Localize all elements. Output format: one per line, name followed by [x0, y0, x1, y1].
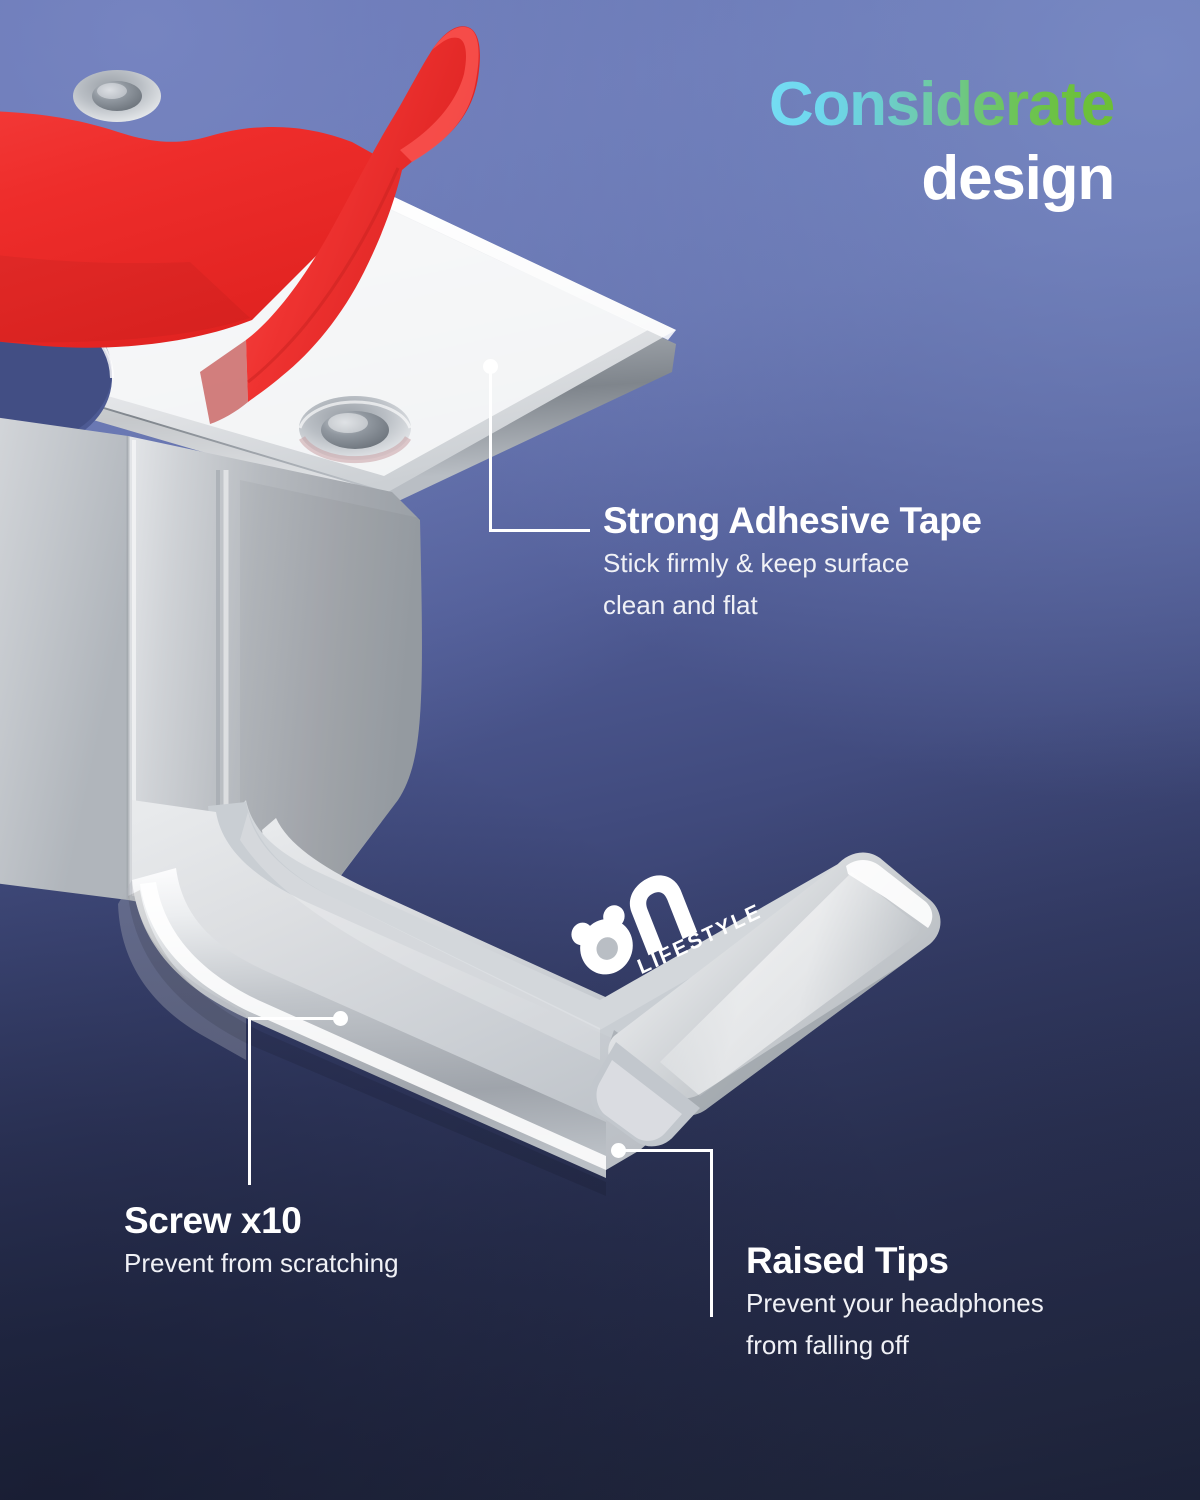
leader-segment-vertical — [489, 366, 492, 532]
callout-subtitle-line-1: Prevent from scratching — [124, 1242, 399, 1284]
callout-title: Raised Tips — [746, 1240, 1044, 1282]
leader-segment-horizontal — [248, 1017, 338, 1020]
callout-subtitle-line-2: from falling off — [746, 1324, 1044, 1366]
leader-line-adhesive — [480, 358, 590, 543]
headline-line-2: design — [769, 148, 1114, 210]
callout-subtitle-line-1: Prevent your headphones — [746, 1282, 1044, 1324]
leader-line-tips — [610, 1142, 718, 1320]
callout-subtitle-line-2: clean and flat — [603, 584, 982, 626]
leader-segment-horizontal — [618, 1149, 713, 1152]
callout-raised-tips: Raised Tips Prevent your headphones from… — [746, 1240, 1044, 1366]
leader-segment-vertical — [248, 1017, 251, 1185]
callout-title: Strong Adhesive Tape — [603, 500, 982, 542]
screw-hole-lower — [299, 396, 411, 460]
callout-subtitle-line-1: Stick firmly & keep surface — [603, 542, 982, 584]
callout-strong-adhesive-tape: Strong Adhesive Tape Stick firmly & keep… — [603, 500, 982, 626]
product-feature-poster: LIFESTYLE Considerate design Strong Adhe… — [0, 0, 1200, 1500]
leader-line-screw — [248, 1010, 350, 1188]
callout-title: Screw x10 — [124, 1200, 399, 1242]
callout-screw-x10: Screw x10 Prevent from scratching — [124, 1200, 399, 1284]
headline-line-1: Considerate — [769, 74, 1114, 136]
page-title: Considerate design — [769, 74, 1114, 210]
leader-segment-vertical — [710, 1149, 713, 1317]
screw-hole-upper — [73, 70, 161, 122]
leader-segment-horizontal — [489, 529, 590, 532]
